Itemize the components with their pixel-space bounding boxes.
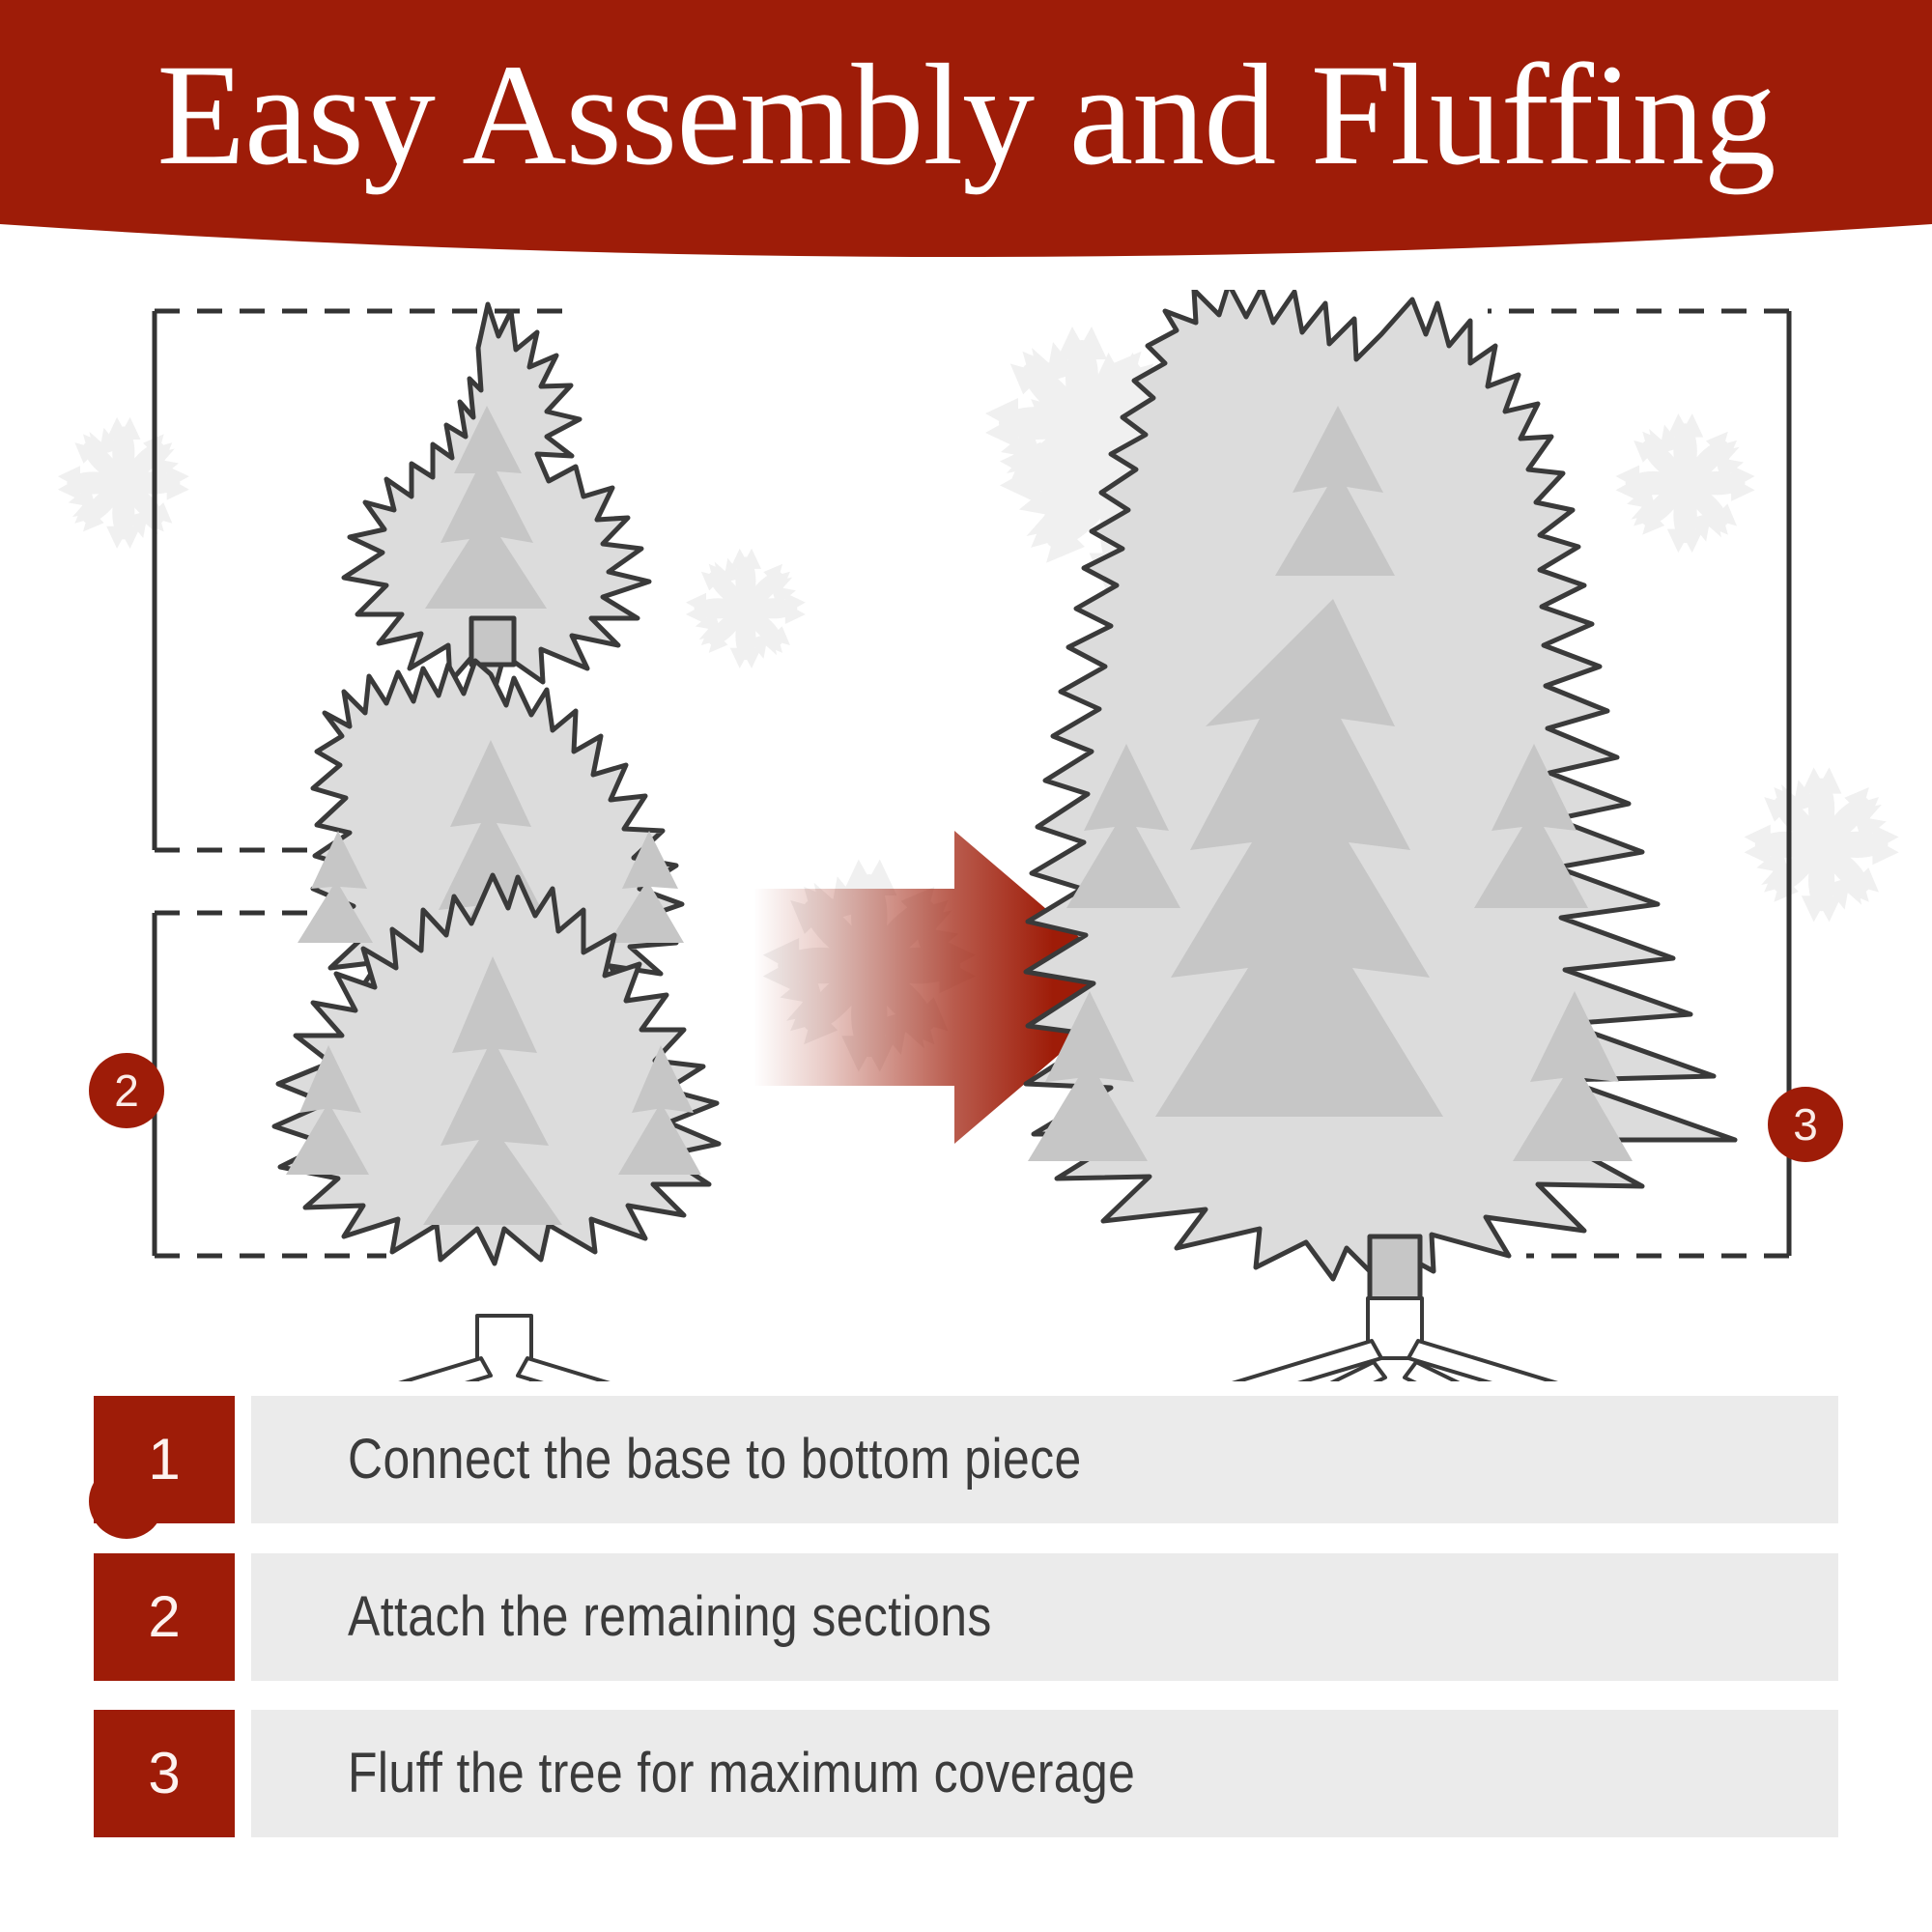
step-label: Connect the base to bottom piece [348, 1432, 1082, 1488]
tree-section-top [344, 304, 649, 690]
step-number-badge: 3 [94, 1710, 235, 1837]
tree-stand-right [1090, 1298, 1700, 1381]
assembled-tree [1026, 290, 1735, 1308]
step-label: Attach the remaining sections [348, 1589, 992, 1645]
bracket-badge-3[interactable]: 3 [1768, 1087, 1843, 1162]
step-label: Fluff the tree for maximum coverage [348, 1746, 1135, 1802]
tree-stand-left [199, 1316, 810, 1381]
step-text-container: Attach the remaining sections [251, 1553, 1838, 1681]
infographic-page: Easy Assembly and Fluffing [0, 0, 1932, 1932]
page-title: Easy Assembly and Fluffing [0, 43, 1932, 187]
step-row[interactable]: 2 Attach the remaining sections [94, 1553, 1838, 1681]
bracket-badge-2[interactable]: 2 [89, 1053, 164, 1128]
diagram-artwork [0, 290, 1932, 1381]
header-banner: Easy Assembly and Fluffing [0, 0, 1932, 290]
assembly-diagram: 2 1 3 [0, 290, 1932, 1381]
step-number-badge: 2 [94, 1553, 235, 1681]
steps-list: 1 Connect the base to bottom piece 2 Att… [0, 1381, 1932, 1864]
step-number-badge: 1 [94, 1396, 235, 1523]
step-text-container: Fluff the tree for maximum coverage [251, 1710, 1838, 1837]
step-row[interactable]: 3 Fluff the tree for maximum coverage [94, 1710, 1838, 1837]
step-row[interactable]: 1 Connect the base to bottom piece [94, 1396, 1838, 1523]
step-text-container: Connect the base to bottom piece [251, 1396, 1838, 1523]
